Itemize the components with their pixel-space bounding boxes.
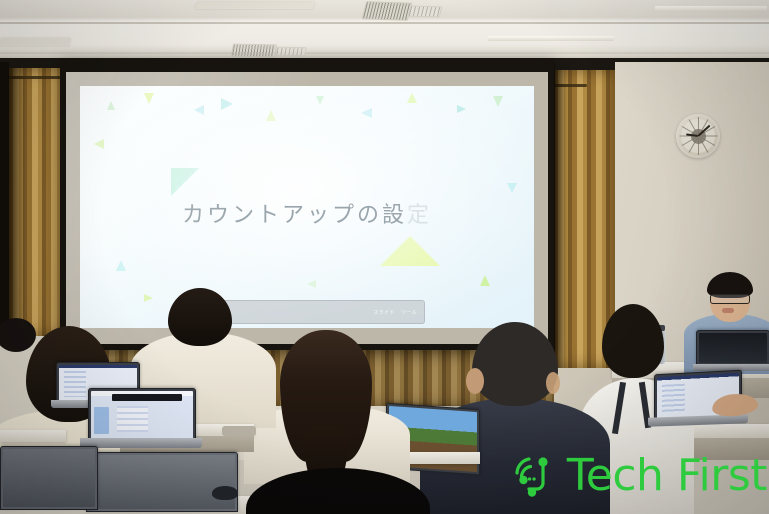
wall-recess-shadow: [0, 62, 9, 338]
ceiling-light-strip: [488, 36, 614, 41]
wall-clock: [676, 114, 720, 158]
slide-triangle: [493, 96, 503, 107]
instructor-glasses-icon: [710, 294, 750, 304]
laptop-screen[interactable]: [699, 333, 767, 363]
ceiling-vent: [362, 1, 412, 21]
classroom-photo: カウントアップの設定 スライド ツール: [0, 0, 769, 514]
brand-name: Tech First: [567, 454, 767, 498]
computer-mouse[interactable]: [212, 486, 238, 500]
brand-watermark: Tech First: [511, 452, 767, 500]
laptop-front-left[interactable]: [86, 452, 236, 514]
slide-triangle: [171, 168, 199, 196]
ceiling-vent: [408, 5, 443, 17]
slide-triangle: [507, 183, 517, 193]
laptop-base: [80, 438, 202, 448]
node-dot: [528, 488, 536, 496]
ceiling-light-strip: [0, 38, 71, 46]
slide-title-text: カウントアップの設: [182, 203, 407, 228]
screen-mat: カウントアップの設定 スライド ツール: [66, 72, 548, 344]
ceiling-seam: [0, 22, 769, 24]
laptop-instructor[interactable]: [696, 330, 768, 372]
slide-triangle: [457, 105, 466, 113]
slide-triangle: [307, 280, 316, 288]
suit-neck-skin: [546, 372, 560, 394]
laptop-student-left[interactable]: [88, 388, 194, 450]
projection-screen: カウントアップの設定 スライド ツール: [60, 58, 554, 350]
midleft-head-hair: [168, 288, 232, 346]
slide-triangle: [221, 98, 233, 110]
node-dot: [519, 476, 527, 484]
ceiling-seam: [0, 52, 769, 54]
tech-first-node-icon: [511, 452, 561, 500]
laptop-front-far-left[interactable]: [0, 446, 96, 514]
slide-triangle: [194, 105, 204, 115]
suit-ear: [466, 368, 484, 394]
desk-item: [222, 426, 256, 436]
laptop-screen-panel: [94, 407, 109, 434]
student-right-head: [602, 304, 664, 378]
slide-triangle: [361, 108, 372, 118]
laptop-screen-back: [3, 449, 95, 507]
node-dot: [538, 457, 547, 466]
suit-head-hair: [472, 322, 558, 406]
laptop-screen-toolbar: [112, 394, 182, 401]
slide-triangle: [116, 260, 126, 271]
laptop-screen-blocks: [117, 406, 149, 432]
slide-title: カウントアップの設定: [80, 197, 534, 229]
laptop-screen-back: [89, 455, 235, 509]
slide-triangle: [316, 96, 324, 105]
ceiling-light-strip: [195, 2, 315, 9]
toolbar-label-1[interactable]: スライド: [373, 309, 395, 316]
slide-triangle: [94, 139, 104, 149]
ceiling-vent: [275, 47, 306, 57]
slide-triangle: [144, 93, 154, 104]
slide-triangle: [407, 93, 417, 103]
laptop-lid: [86, 452, 238, 512]
instructor-mouth: [722, 308, 734, 313]
slide-triangle: [266, 110, 276, 121]
slat-shadow: [8, 68, 26, 336]
slide-triangle: [380, 236, 440, 266]
laptop-lid: [696, 330, 769, 366]
slide-triangle: [480, 275, 490, 286]
laptop-lid: [0, 446, 98, 510]
ceiling-light-strip: [655, 6, 767, 12]
slide-title-faded: 定: [407, 203, 432, 228]
toolbar-label-2[interactable]: ツール: [401, 309, 417, 316]
slide-triangle: [107, 101, 115, 110]
student-desk-far-left: [0, 430, 66, 442]
laptop-lid: [88, 388, 196, 442]
ceiling-vent: [231, 44, 277, 58]
